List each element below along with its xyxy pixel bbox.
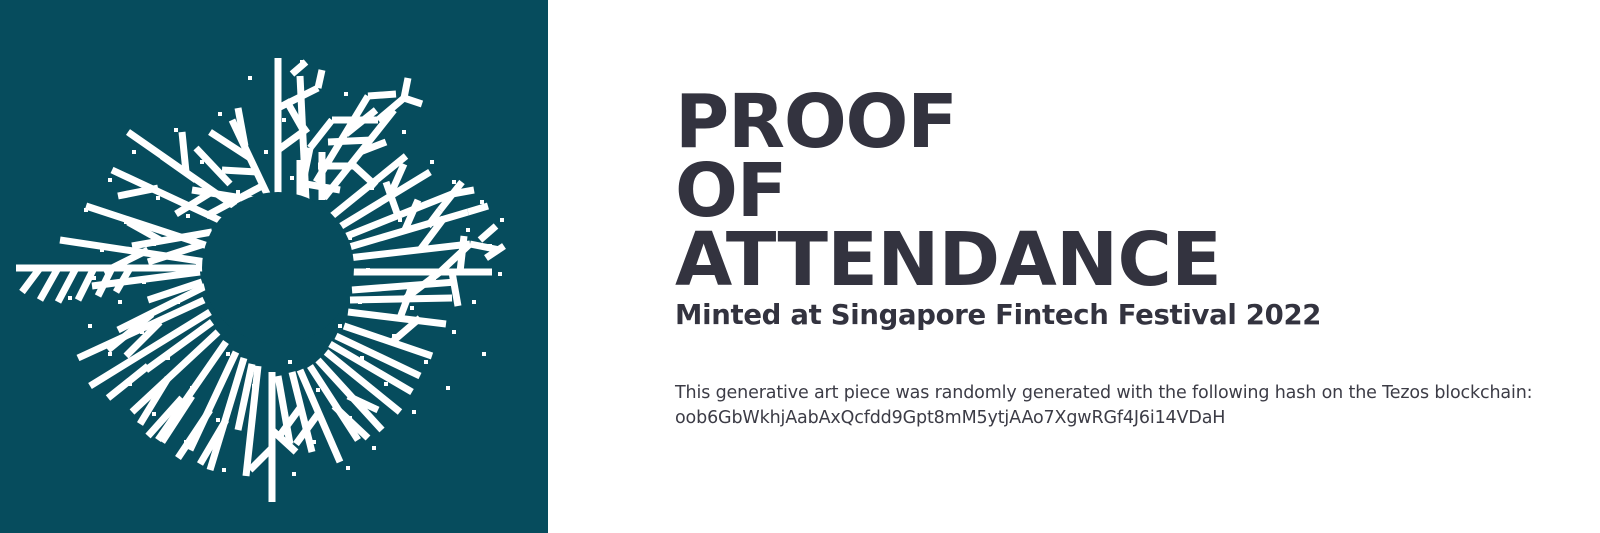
generative-radial-branch-art-icon	[0, 0, 548, 533]
art-center-disc	[202, 192, 354, 344]
certificate-subtitle: Minted at Singapore Fintech Festival 202…	[675, 300, 1575, 332]
certificate-text-panel: PROOF OF ATTENDANCE Minted at Singapore …	[548, 0, 1600, 533]
proof-of-attendance-certificate: PROOF OF ATTENDANCE Minted at Singapore …	[0, 0, 1600, 533]
blockchain-hash-value: oob6GbWkhjAabAxQcfdd9Gpt8mM5ytjAAo7XgwRG…	[675, 406, 1535, 431]
title-line-proof: PROOF	[675, 88, 1575, 157]
certificate-description: This generative art piece was randomly g…	[675, 381, 1535, 432]
description-intro-line: This generative art piece was randomly g…	[675, 381, 1535, 406]
generative-art-panel	[0, 0, 548, 533]
page-title: PROOF OF ATTENDANCE Minted at Singapore …	[675, 88, 1575, 331]
title-line-of: OF	[675, 157, 1575, 226]
title-line-attendance: ATTENDANCE	[675, 226, 1575, 295]
